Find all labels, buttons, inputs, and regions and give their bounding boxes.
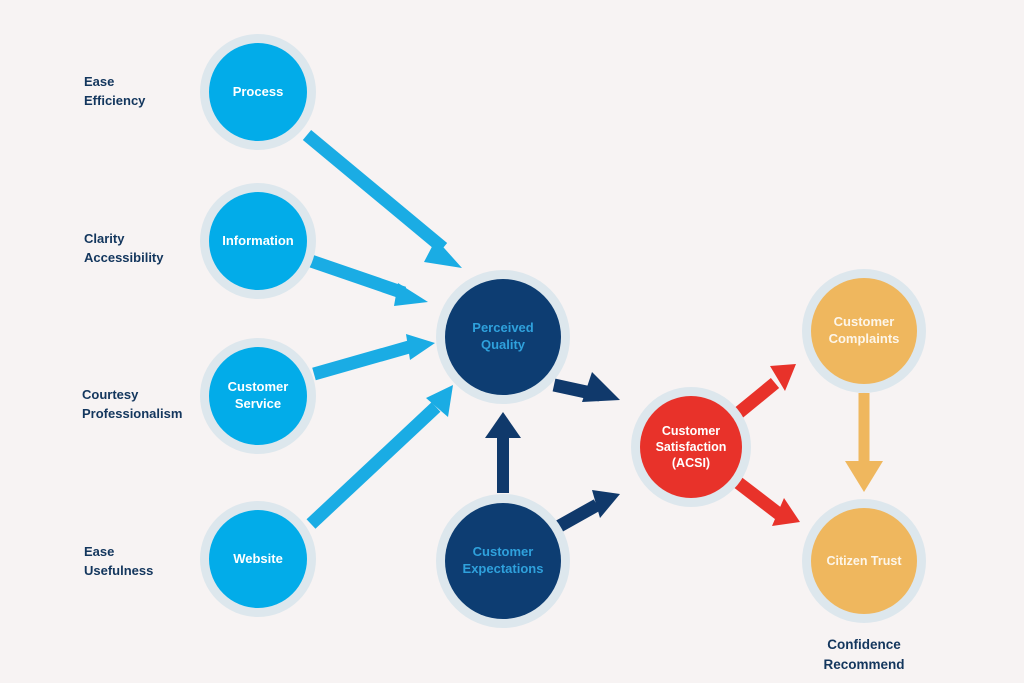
edge-information-to-quality xyxy=(311,261,428,306)
edge-complaints-to-trust xyxy=(845,393,883,492)
node-citizen-trust[interactable]: Citizen Trust xyxy=(802,499,926,623)
edge-quality-to-acsi xyxy=(554,372,620,402)
edge-website-to-quality xyxy=(311,385,453,524)
edge-service-to-quality xyxy=(314,334,435,374)
node-website-body: Website xyxy=(209,510,307,608)
node-customer-complaints[interactable]: Customer Complaints xyxy=(802,269,926,393)
node-website-label: Website xyxy=(233,551,283,568)
label-process: Ease Efficiency xyxy=(84,72,145,110)
node-acsi-label: Customer Satisfaction (ACSI) xyxy=(656,423,727,471)
node-customer-expectations-body: Customer Expectations xyxy=(445,503,561,619)
node-information-label: Information xyxy=(222,233,294,250)
node-citizen-trust-body: Citizen Trust xyxy=(811,508,917,614)
node-customer-complaints-label: Customer Complaints xyxy=(829,314,900,347)
node-customer-expectations[interactable]: Customer Expectations xyxy=(436,494,570,628)
edge-expectations-to-quality xyxy=(485,412,521,493)
edge-acsi-to-trust xyxy=(736,481,800,526)
diagram-canvas: ProcessInformationCustomer ServiceWebsit… xyxy=(0,0,1024,683)
node-customer-service[interactable]: Customer Service xyxy=(200,338,316,454)
node-customer-service-body: Customer Service xyxy=(209,347,307,445)
node-perceived-quality-label: Perceived Quality xyxy=(472,320,533,353)
node-process[interactable]: Process xyxy=(200,34,316,150)
node-process-body: Process xyxy=(209,43,307,141)
label-citizen-trust: Confidence Recommend xyxy=(774,635,954,674)
node-information[interactable]: Information xyxy=(200,183,316,299)
node-process-label: Process xyxy=(233,84,284,101)
node-perceived-quality[interactable]: Perceived Quality xyxy=(436,270,570,404)
edge-expectations-to-acsi xyxy=(556,490,620,528)
edge-process-to-quality xyxy=(307,135,462,268)
node-citizen-trust-label: Citizen Trust xyxy=(826,553,901,569)
label-information: Clarity Accessibility xyxy=(84,229,164,267)
label-customer-service: Courtesy Professionalism xyxy=(82,385,182,423)
node-customer-service-label: Customer Service xyxy=(228,379,289,412)
node-acsi[interactable]: Customer Satisfaction (ACSI) xyxy=(631,387,751,507)
node-acsi-body: Customer Satisfaction (ACSI) xyxy=(640,396,742,498)
node-website[interactable]: Website xyxy=(200,501,316,617)
node-information-body: Information xyxy=(209,192,307,290)
node-perceived-quality-body: Perceived Quality xyxy=(445,279,561,395)
node-customer-complaints-body: Customer Complaints xyxy=(811,278,917,384)
edge-acsi-to-complaints xyxy=(736,364,796,415)
label-website: Ease Usefulness xyxy=(84,542,153,580)
node-customer-expectations-label: Customer Expectations xyxy=(463,544,544,577)
